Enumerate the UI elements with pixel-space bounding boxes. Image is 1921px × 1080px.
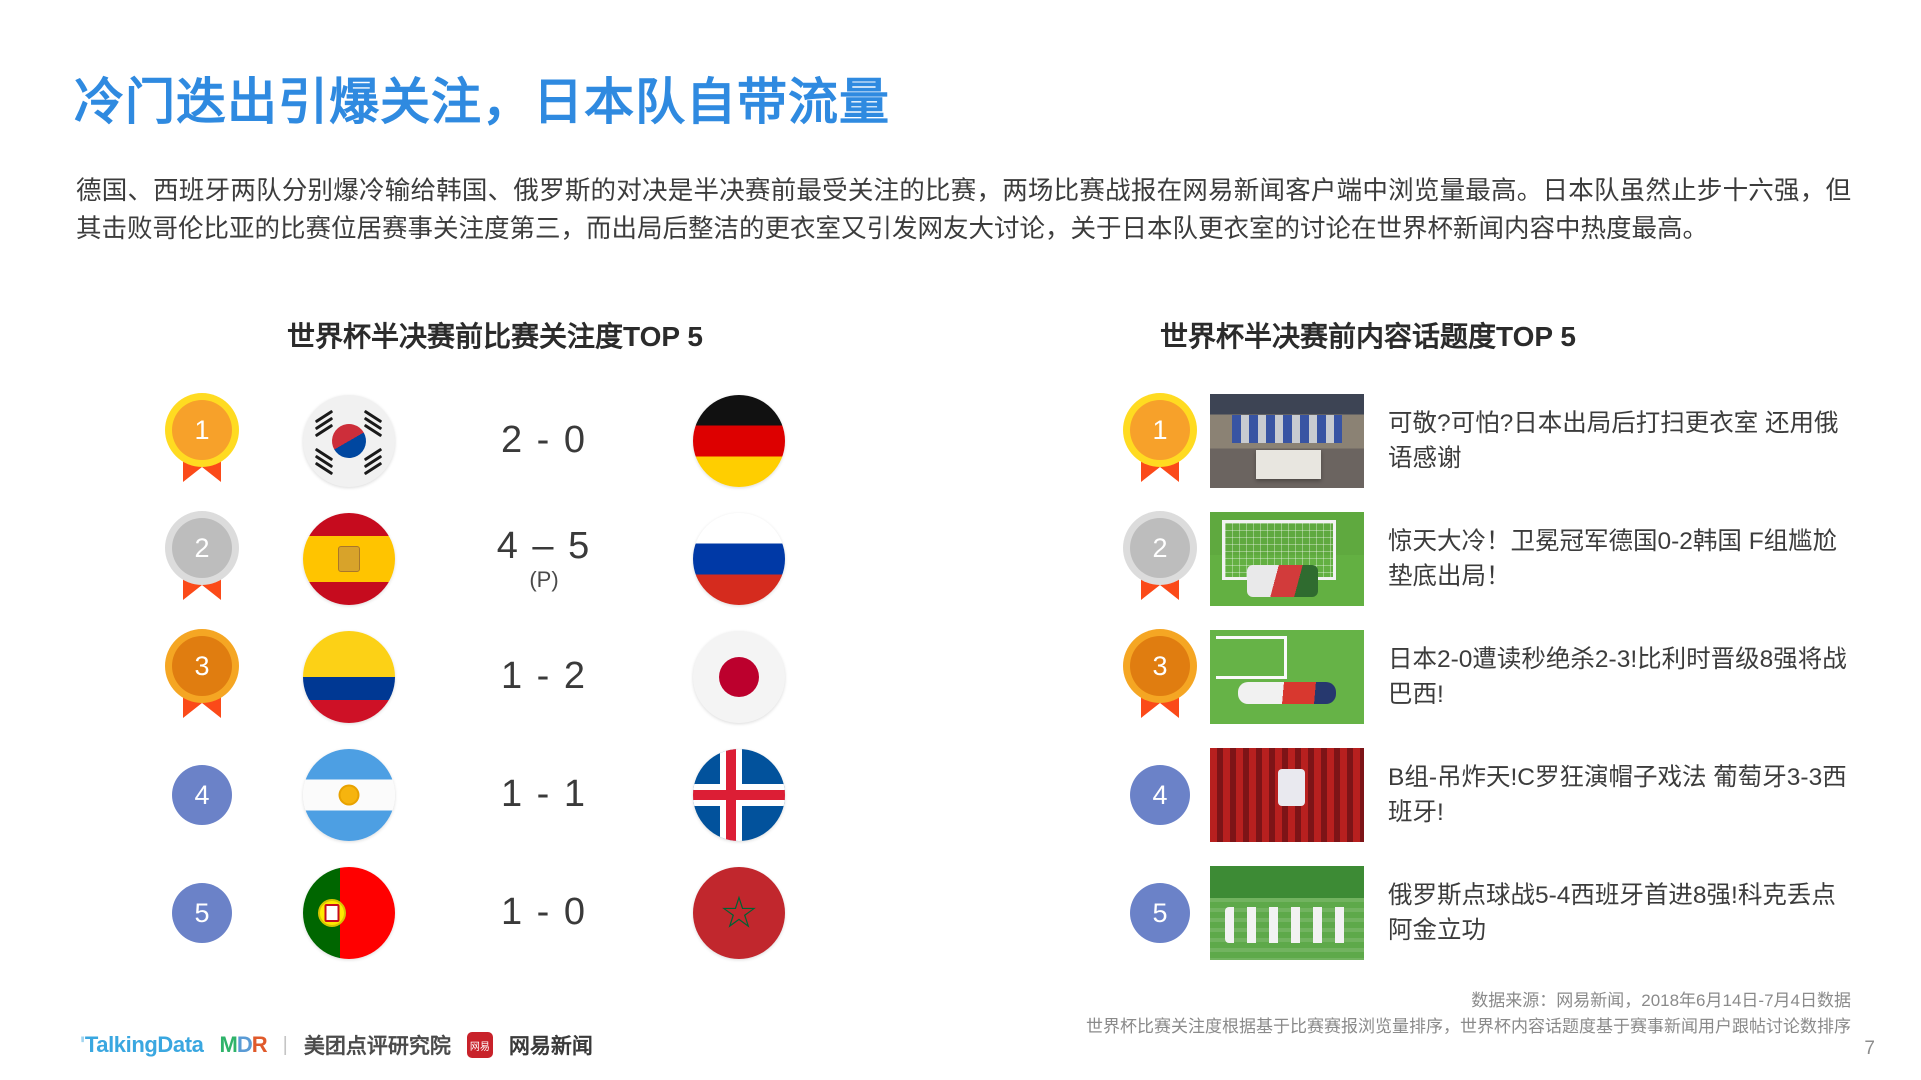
news-thumbnail-pitch (1210, 630, 1364, 724)
spain-crest (338, 546, 360, 572)
match-row[interactable]: 3 1 - 2 (150, 618, 870, 736)
team-b-flag-cell (644, 631, 834, 723)
netease-news-logo: 网易新闻 (509, 1030, 593, 1060)
match-row[interactable]: 2 4 – 5 (P) (150, 500, 870, 618)
score-cell: 4 – 5 (P) (444, 527, 644, 592)
match-row[interactable]: 5 1 - 0 ☆ (150, 854, 870, 972)
lede-paragraph: 德国、西班牙两队分别爆冷输给韩国、俄罗斯的对决是半决赛前最受关注的比赛，两场比赛… (76, 172, 1851, 248)
rank-cell: 2 (150, 518, 254, 600)
team-a-flag-cell (254, 395, 444, 487)
score-cell: 1 - 1 (444, 775, 644, 815)
source-line-2: 世界杯比赛关注度根据基于比赛赛报浏览量排序，世界杯内容话题度基于赛事新闻用户跟帖… (1086, 1014, 1851, 1040)
score-value: 1 - 0 (501, 891, 587, 933)
news-headline[interactable]: 惊天大冷！卫冕冠军德国0-2韩国 F组尴尬垫底出局！ (1388, 524, 1870, 594)
page-number: 7 (1864, 1038, 1875, 1060)
rank-number: 1 (172, 400, 232, 460)
medal-silver-icon: 2 (1130, 518, 1190, 600)
rank-cell: 1 (1110, 400, 1210, 482)
score-value: 2 - 0 (501, 419, 587, 461)
right-panel-heading: 世界杯半决赛前内容话题度TOP 5 (1160, 315, 1576, 355)
score-note: (P) (444, 568, 644, 591)
flag-morocco-icon: ☆ (693, 867, 785, 959)
team-b-flag-cell: ☆ (644, 867, 834, 959)
news-thumbnail-celebrate (1210, 866, 1364, 960)
rank-cell: 4 (1110, 765, 1210, 825)
medal-bronze-icon: 3 (1130, 636, 1190, 718)
team-b-flag-cell (644, 749, 834, 841)
rank-badge: 4 (1130, 765, 1190, 825)
team-a-flag-cell (254, 631, 444, 723)
japan-sun (719, 657, 759, 697)
team-a-flag-cell (254, 513, 444, 605)
team-b-flag-cell (644, 395, 834, 487)
flag-germany-icon (693, 395, 785, 487)
news-thumbnail-lockerroom (1210, 394, 1364, 488)
flag-spain-icon (303, 513, 395, 605)
talkingdata-wordmark: TalkingData (85, 1032, 204, 1057)
netease-badge-icon: 网易 (467, 1032, 493, 1058)
left-panel-heading: 世界杯半决赛前比赛关注度TOP 5 (287, 315, 703, 355)
flag-portugal-icon (303, 867, 395, 959)
team-a-flag-cell (254, 867, 444, 959)
rank-number: 1 (1130, 400, 1190, 460)
meituan-research-logo: 美团点评研究院 (304, 1030, 451, 1060)
match-row[interactable]: 4 1 - 1 (150, 736, 870, 854)
talkingdata-logo: 'TalkingData (80, 1032, 204, 1058)
list-item[interactable]: 4 B组-吊炸天!C罗狂演帽子戏法 葡萄牙3-3西班牙! (1110, 736, 1870, 854)
flag-argentina-icon (303, 749, 395, 841)
rank-cell: 4 (150, 765, 254, 825)
rank-cell: 5 (1110, 883, 1210, 943)
score-value: 4 – 5 (497, 525, 592, 567)
score-cell: 1 - 0 (444, 893, 644, 933)
rank-cell: 1 (150, 400, 254, 482)
match-ranking-list: 1 (150, 382, 870, 972)
news-thumbnail-goal (1210, 512, 1364, 606)
news-thumbnail-crowd (1210, 748, 1364, 842)
news-headline[interactable]: 日本2-0遭读秒绝杀2-3!比利时晋级8强将战巴西! (1388, 642, 1870, 712)
rank-cell: 5 (150, 883, 254, 943)
match-row[interactable]: 1 (150, 382, 870, 500)
source-line-1: 数据来源：网易新闻，2018年6月14日-7月4日数据 (1086, 988, 1851, 1014)
flag-russia-icon (693, 513, 785, 605)
rank-cell: 3 (150, 636, 254, 718)
news-headline[interactable]: 俄罗斯点球战5-4西班牙首进8强!科克丢点阿金立功 (1388, 878, 1870, 948)
medal-bronze-icon: 3 (172, 636, 232, 718)
list-item[interactable]: 1 可敬?可怕?日本出局后打扫更衣室 还用俄语感谢 (1110, 382, 1870, 500)
footer-logos: 'TalkingData MDR | 美团点评研究院 网易 网易新闻 (80, 1030, 593, 1060)
argentina-sun (341, 787, 358, 804)
score-value: 1 - 1 (501, 773, 587, 815)
page-title: 冷门迭出引爆关注，日本队自带流量 (74, 62, 890, 134)
list-item[interactable]: 3 日本2-0遭读秒绝杀2-3!比利时晋级8强将战巴西! (1110, 618, 1870, 736)
mdr-logo: MDR (220, 1032, 267, 1058)
source-note: 数据来源：网易新闻，2018年6月14日-7月4日数据 世界杯比赛关注度根据基于… (1086, 988, 1851, 1040)
flag-japan-icon (693, 631, 785, 723)
flag-korea-icon (303, 395, 395, 487)
rank-number: 2 (1130, 518, 1190, 578)
rank-cell: 2 (1110, 518, 1210, 600)
flag-iceland-icon (693, 749, 785, 841)
news-ranking-list: 1 可敬?可怕?日本出局后打扫更衣室 还用俄语感谢 2 惊天大冷！卫冕冠军德国0… (1110, 382, 1870, 972)
morocco-star: ☆ (719, 895, 758, 930)
score-value: 1 - 2 (501, 655, 587, 697)
flag-colombia-icon (303, 631, 395, 723)
rank-number: 2 (172, 518, 232, 578)
medal-gold-icon: 1 (172, 400, 232, 482)
list-item[interactable]: 2 惊天大冷！卫冕冠军德国0-2韩国 F组尴尬垫底出局！ (1110, 500, 1870, 618)
score-cell: 2 - 0 (444, 421, 644, 461)
medal-gold-icon: 1 (1130, 400, 1190, 482)
slide-root: 冷门迭出引爆关注，日本队自带流量 德国、西班牙两队分别爆冷输给韩国、俄罗斯的对决… (0, 0, 1921, 1080)
team-a-flag-cell (254, 749, 444, 841)
score-cell: 1 - 2 (444, 657, 644, 697)
team-b-flag-cell (644, 513, 834, 605)
rank-badge: 4 (172, 765, 232, 825)
rank-badge: 5 (1130, 883, 1190, 943)
portugal-armillary (318, 899, 346, 927)
news-headline[interactable]: 可敬?可怕?日本出局后打扫更衣室 还用俄语感谢 (1388, 406, 1870, 476)
rank-badge: 5 (172, 883, 232, 943)
rank-number: 3 (172, 636, 232, 696)
logo-divider: | (283, 1034, 288, 1057)
rank-number: 3 (1130, 636, 1190, 696)
list-item[interactable]: 5 俄罗斯点球战5-4西班牙首进8强!科克丢点阿金立功 (1110, 854, 1870, 972)
news-headline[interactable]: B组-吊炸天!C罗狂演帽子戏法 葡萄牙3-3西班牙! (1388, 760, 1870, 830)
medal-silver-icon: 2 (172, 518, 232, 600)
rank-cell: 3 (1110, 636, 1210, 718)
